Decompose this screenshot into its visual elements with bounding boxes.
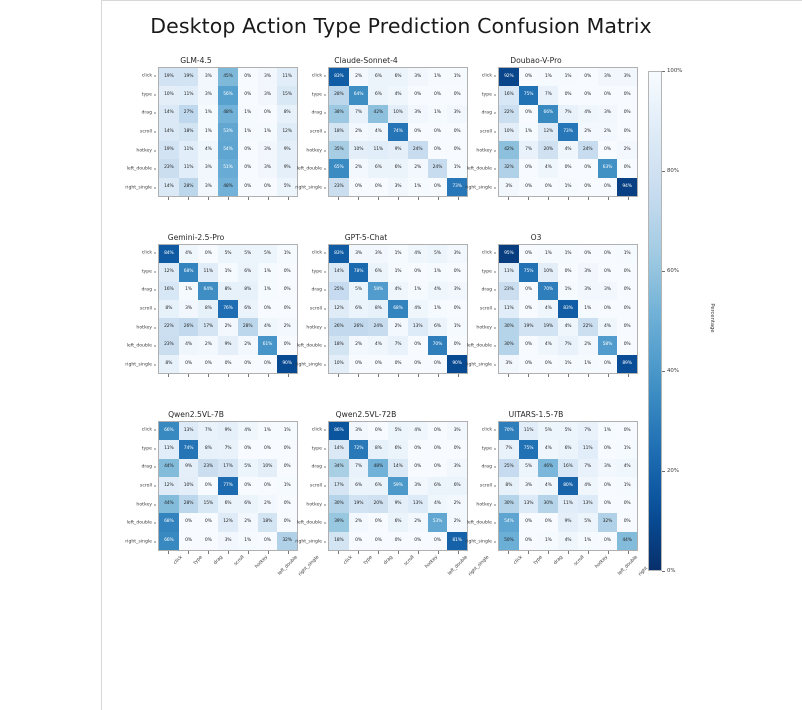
heatmap-cell: 7% (519, 141, 539, 159)
heatmap-cell: 64% (198, 282, 218, 300)
y-tick-mark (494, 523, 497, 524)
y-tick-mark (494, 271, 497, 272)
heatmap-cell: 24% (368, 318, 388, 336)
heatmap-cell: 61% (258, 336, 278, 354)
heatmap-cell: 68% (159, 513, 179, 531)
heatmap-cell: 2% (258, 495, 278, 513)
x-tick-label: right_single (468, 555, 490, 577)
heatmap-cell: 0% (617, 513, 637, 531)
heatmap-cell: 1% (258, 282, 278, 300)
heatmap-cell: 3% (258, 68, 278, 86)
heatmap-cell: 1% (558, 355, 578, 373)
heatmap-cell: 4% (258, 318, 278, 336)
heatmap-cell: 0% (598, 263, 618, 281)
heatmap-cell: 3% (617, 68, 637, 86)
heatmap-cell: 4% (558, 141, 578, 159)
heatmap-cell: 1% (617, 440, 637, 458)
heatmap-cell: 0% (258, 105, 278, 123)
heatmap-cell: 12% (159, 477, 179, 495)
heatmap-cell: 65% (329, 159, 349, 177)
x-tick-mark (418, 197, 419, 200)
heatmap-cell: 0% (198, 355, 218, 373)
y-tick-mark (494, 113, 497, 114)
heatmap-cell: 5% (558, 422, 578, 440)
panel-title: Claude-Sonnet-4 (295, 56, 437, 65)
x-tick-mark (208, 551, 209, 554)
heatmap-cell: 7% (499, 440, 519, 458)
heatmap-cell: 0% (238, 440, 258, 458)
heatmap-cell: 9% (179, 459, 199, 477)
heatmap-cell: 72% (349, 440, 369, 458)
y-tick-label: type (142, 446, 152, 451)
heatmap-cell: 44% (159, 495, 179, 513)
y-tick-label: drag (311, 111, 322, 116)
y-tick-label: left_double (127, 344, 152, 349)
heatmap-cell: 10% (538, 263, 558, 281)
y-tick-label: drag (141, 465, 152, 470)
y-tick-label: scroll (140, 484, 152, 489)
heatmap-cell: 17% (198, 318, 218, 336)
x-tick-mark (548, 551, 549, 554)
heatmap-cell: 0% (238, 355, 258, 373)
heatmap-cell: 1% (428, 68, 448, 86)
heatmap-cell: 18% (179, 123, 199, 141)
heatmap-cell: 0% (179, 355, 199, 373)
confusion-matrix-panel: O3clicktypedragscrollhotkeyleft_doubleri… (465, 233, 607, 378)
heatmap-cell: 80% (558, 477, 578, 495)
x-tick-label: drag (553, 555, 564, 566)
heatmap-cell: 28% (179, 178, 199, 196)
heatmap-cell: 3% (179, 300, 199, 318)
heatmap-cell: 5% (578, 513, 598, 531)
heatmap-cell: 1% (388, 245, 408, 263)
heatmap-cell: 77% (218, 477, 238, 495)
y-tick-mark (154, 309, 157, 310)
heatmap-cell: 9% (558, 513, 578, 531)
heatmap-cell: 75% (519, 263, 539, 281)
y-tick-label: drag (481, 465, 492, 470)
heatmap-cell: 24% (408, 141, 428, 159)
heatmap-cell: 0% (349, 355, 369, 373)
heatmap-cell: 4% (538, 440, 558, 458)
x-tick-label: left_double (617, 555, 639, 577)
heatmap-cell: 8% (238, 282, 258, 300)
heatmap-cell: 23% (159, 336, 179, 354)
heatmap-cell: 3% (578, 263, 598, 281)
heatmap-cell: 6% (428, 477, 448, 495)
heatmap-cell: 0% (598, 245, 618, 263)
heatmap-cell: 0% (258, 355, 278, 373)
heatmap-cell: 0% (349, 178, 369, 196)
heatmap-cell: 6% (368, 477, 388, 495)
heatmap-cell: 8% (159, 300, 179, 318)
heatmap-cell: 1% (218, 263, 238, 281)
heatmap-cell: 92% (499, 68, 519, 86)
heatmap-cell: 54% (218, 141, 238, 159)
heatmap-cell: 10% (258, 459, 278, 477)
x-tick-mark (248, 197, 249, 200)
y-tick-label: right_single (465, 539, 492, 544)
x-tick-mark (588, 551, 589, 554)
x-tick-mark (608, 551, 609, 554)
heatmap-cell: 0% (617, 495, 637, 513)
x-tick-mark (248, 551, 249, 554)
heatmap-cell: 0% (598, 477, 618, 495)
heatmap-cell: 7% (558, 105, 578, 123)
heatmap-cell: 14% (159, 123, 179, 141)
heatmap-cell: 58% (368, 282, 388, 300)
heatmap-cell: 7% (558, 336, 578, 354)
heatmap-cell: 30% (499, 318, 519, 336)
heatmap-cell: 0% (519, 178, 539, 196)
x-tick-mark (418, 374, 419, 377)
heatmap-cell: 19% (179, 68, 199, 86)
heatmap-cell: 0% (598, 178, 618, 196)
y-tick-mark (324, 187, 327, 188)
heatmap-grid: 86%3%0%5%4%0%3%14%72%8%6%0%0%0%34%7%48%1… (328, 421, 468, 551)
heatmap-cell: 0% (538, 355, 558, 373)
y-axis: clicktypedragscrollhotkeyleft_doublerigh… (465, 67, 496, 197)
heatmap-cell: 11% (499, 263, 519, 281)
heatmap-cell: 2% (238, 513, 258, 531)
x-tick-mark (398, 374, 399, 377)
x-tick-mark (168, 197, 169, 200)
heatmap-cell: 0% (538, 178, 558, 196)
heatmap-cell: 3% (198, 86, 218, 104)
heatmap-cell: 42% (499, 141, 519, 159)
heatmap-cell: 4% (368, 123, 388, 141)
x-tick-mark (628, 197, 629, 200)
heatmap-cell: 10% (499, 123, 519, 141)
heatmap-grid: 92%0%1%1%0%3%3%16%75%7%0%0%0%0%22%0%66%7… (498, 67, 638, 197)
x-tick-mark (358, 197, 359, 200)
heatmap-cell: 64% (349, 86, 369, 104)
heatmap-cell: 3% (258, 141, 278, 159)
heatmap-cell: 4% (598, 318, 618, 336)
x-tick-label: drag (383, 555, 394, 566)
heatmap-cell: 1% (198, 123, 218, 141)
y-tick-label: type (142, 92, 152, 97)
heatmap-cell: 1% (598, 422, 618, 440)
y-axis: clicktypedragscrollhotkeyleft_doublerigh… (465, 421, 496, 551)
heatmap-cell: 14% (388, 459, 408, 477)
heatmap-cell: 44% (159, 459, 179, 477)
x-tick-mark (568, 197, 569, 200)
heatmap-cell: 0% (198, 532, 218, 550)
y-tick-mark (494, 448, 497, 449)
colorbar-tick-mark (662, 71, 665, 72)
x-tick-mark (398, 197, 399, 200)
y-tick-label: left_double (297, 167, 322, 172)
heatmap-cell: 4% (538, 159, 558, 177)
heatmap-cell: 30% (499, 495, 519, 513)
heatmap-cell: 11% (558, 495, 578, 513)
heatmap-cell: 3% (349, 422, 369, 440)
heatmap-grid: 70%11%5%5%7%1%0%7%75%4%6%11%0%1%25%5%46%… (498, 421, 638, 551)
heatmap-cell: 23% (499, 282, 519, 300)
heatmap-cell: 0% (258, 477, 278, 495)
heatmap-cell: 68% (388, 300, 408, 318)
x-tick-label: scroll (404, 555, 416, 567)
y-tick-mark (154, 486, 157, 487)
heatmap-cell: 94% (617, 178, 637, 196)
heatmap-cell: 30% (329, 495, 349, 513)
y-tick-mark (324, 523, 327, 524)
x-tick-mark (568, 551, 569, 554)
heatmap-cell: 0% (519, 159, 539, 177)
heatmap-cell: 1% (558, 178, 578, 196)
heatmap-cell: 74% (179, 440, 199, 458)
y-tick-mark (324, 290, 327, 291)
x-tick-label: scroll (234, 555, 246, 567)
y-tick-mark (324, 150, 327, 151)
heatmap-cell: 0% (617, 123, 637, 141)
heatmap-cell: 6% (388, 440, 408, 458)
heatmap-cell: 18% (329, 532, 349, 550)
heatmap-cell: 9% (388, 141, 408, 159)
y-tick-label: left_double (127, 167, 152, 172)
heatmap-cell: 2% (578, 123, 598, 141)
heatmap-cell: 45% (218, 68, 238, 86)
heatmap-cell: 0% (368, 422, 388, 440)
heatmap-cell: 13% (578, 495, 598, 513)
heatmap-cell: 3% (388, 178, 408, 196)
y-tick-mark (494, 364, 497, 365)
x-tick-mark (378, 197, 379, 200)
heatmap-cell: 83% (558, 300, 578, 318)
heatmap-cell: 39% (329, 513, 349, 531)
heatmap-cell: 0% (519, 105, 539, 123)
colorbar-tick-mark (662, 171, 665, 172)
heatmap-cell: 5% (388, 422, 408, 440)
heatmap-cell: 1% (538, 245, 558, 263)
heatmap-cell: 2% (349, 68, 369, 86)
heatmap-cell: 83% (329, 245, 349, 263)
heatmap-cell: 1% (238, 532, 258, 550)
y-tick-mark (324, 448, 327, 449)
y-tick-mark (154, 346, 157, 347)
colorbar: 0%20%40%60%80%100%Percentage (648, 71, 662, 571)
heatmap-cell: 66% (159, 532, 179, 550)
y-tick-mark (154, 169, 157, 170)
heatmap-grid: 66%13%7%9%4%1%1%11%74%8%7%0%0%0%44%9%23%… (158, 421, 298, 551)
heatmap-cell: 16% (558, 459, 578, 477)
x-tick-label: hotkey (595, 555, 610, 570)
heatmap-cell: 4% (408, 422, 428, 440)
heatmap-cell: 7% (218, 440, 238, 458)
x-tick-mark (508, 197, 509, 200)
heatmap-cell: 0% (238, 86, 258, 104)
heatmap-cell: 3% (499, 178, 519, 196)
heatmap-cell: 6% (218, 495, 238, 513)
heatmap-cell: 11% (159, 440, 179, 458)
x-tick-label: right_single (298, 555, 320, 577)
heatmap-cell: 73% (558, 123, 578, 141)
heatmap-cell: 0% (408, 263, 428, 281)
heatmap-cell: 6% (388, 68, 408, 86)
x-tick-mark (168, 374, 169, 377)
x-tick-mark (528, 551, 529, 554)
y-tick-mark (494, 169, 497, 170)
x-tick-label: scroll (574, 555, 586, 567)
heatmap-cell: 4% (617, 459, 637, 477)
heatmap-cell: 70% (428, 336, 448, 354)
y-axis: clicktypedragscrollhotkeyleft_doublerigh… (125, 244, 156, 374)
heatmap-cell: 0% (558, 159, 578, 177)
heatmap-cell: 5% (519, 459, 539, 477)
x-tick-mark (438, 197, 439, 200)
x-tick-mark (608, 374, 609, 377)
heatmap-cell: 6% (368, 159, 388, 177)
heatmap-cell: 3% (499, 355, 519, 373)
y-tick-label: hotkey (136, 148, 152, 153)
heatmap-cell: 0% (258, 532, 278, 550)
x-tick-mark (208, 374, 209, 377)
heatmap-cell: 70% (499, 422, 519, 440)
heatmap-cell: 0% (617, 336, 637, 354)
y-tick-mark (324, 76, 327, 77)
colorbar-tick-mark (662, 471, 665, 472)
heatmap-cell: 1% (428, 263, 448, 281)
y-tick-label: right_single (295, 185, 322, 190)
heatmap-cell: 4% (558, 532, 578, 550)
y-tick-mark (154, 76, 157, 77)
heatmap-cell: 12% (329, 300, 349, 318)
heatmap-cell: 3% (198, 159, 218, 177)
heatmap-cell: 2% (578, 336, 598, 354)
heatmap-cell: 0% (408, 440, 428, 458)
heatmap-cell: 78% (349, 263, 369, 281)
y-tick-mark (494, 94, 497, 95)
colorbar-tick-label: 40% (667, 368, 679, 374)
y-tick-mark (324, 364, 327, 365)
y-tick-mark (324, 327, 327, 328)
heatmap-cell: 11% (499, 300, 519, 318)
heatmap-cell: 4% (538, 477, 558, 495)
heatmap-cell: 0% (598, 86, 618, 104)
heatmap-cell: 28% (238, 318, 258, 336)
heatmap-cell: 18% (329, 336, 349, 354)
x-tick-label: hotkey (255, 555, 270, 570)
heatmap-cell: 3% (198, 178, 218, 196)
heatmap-cell: 5% (238, 459, 258, 477)
panel-title: GLM-4.5 (125, 56, 267, 65)
heatmap-cell: 54% (499, 513, 519, 531)
heatmap-cell: 32% (598, 513, 618, 531)
heatmap-cell: 0% (558, 263, 578, 281)
y-tick-label: click (482, 428, 492, 433)
heatmap-cell: 0% (617, 300, 637, 318)
x-tick-mark (588, 197, 589, 200)
heatmap-cell: 0% (617, 422, 637, 440)
heatmap-cell: 8% (499, 477, 519, 495)
x-tick-mark (338, 374, 339, 377)
heatmap-cell: 58% (598, 336, 618, 354)
heatmap-cell: 6% (349, 477, 369, 495)
heatmap-cell: 9% (218, 422, 238, 440)
heatmap-cell: 0% (558, 86, 578, 104)
heatmap-cell: 0% (428, 86, 448, 104)
heatmap-cell: 0% (258, 178, 278, 196)
x-tick-mark (528, 197, 529, 200)
heatmap-cell: 12% (218, 513, 238, 531)
y-tick-label: right_single (125, 539, 152, 544)
heatmap-cell: 26% (179, 318, 199, 336)
y-tick-mark (324, 309, 327, 310)
y-tick-label: scroll (140, 307, 152, 312)
x-tick-mark (168, 551, 169, 554)
heatmap-cell: 2% (598, 123, 618, 141)
heatmap-cell: 1% (258, 263, 278, 281)
heatmap-cell: 0% (578, 245, 598, 263)
heatmap-cell: 53% (218, 123, 238, 141)
heatmap-cell: 10% (159, 86, 179, 104)
heatmap-cell: 7% (198, 422, 218, 440)
x-tick-mark (528, 374, 529, 377)
heatmap-cell: 1% (558, 245, 578, 263)
y-axis: clicktypedragscrollhotkeyleft_doublerigh… (295, 244, 326, 374)
heatmap-cell: 16% (499, 86, 519, 104)
heatmap-cell: 0% (368, 355, 388, 373)
heatmap-cell: 68% (179, 263, 199, 281)
heatmap-cell: 4% (198, 141, 218, 159)
heatmap-cell: 0% (519, 245, 539, 263)
heatmap-cell: 1% (519, 123, 539, 141)
heatmap-cell: 10% (349, 141, 369, 159)
y-axis: clicktypedragscrollhotkeyleft_doublerigh… (125, 67, 156, 197)
heatmap-cell: 0% (519, 68, 539, 86)
x-tick-label: hotkey (425, 555, 440, 570)
heatmap-cell: 3% (519, 477, 539, 495)
x-tick-mark (268, 197, 269, 200)
heatmap-cell: 6% (368, 86, 388, 104)
x-tick-mark (338, 551, 339, 554)
heatmap-cell: 11% (519, 422, 539, 440)
heatmap-cell: 4% (578, 105, 598, 123)
heatmap-cell: 1% (408, 282, 428, 300)
heatmap-cell: 26% (349, 318, 369, 336)
heatmap-cell: 0% (578, 159, 598, 177)
heatmap-cell: 0% (238, 141, 258, 159)
colorbar-gradient (648, 71, 662, 571)
heatmap-cell: 4% (428, 282, 448, 300)
y-tick-mark (154, 364, 157, 365)
heatmap-cell: 59% (388, 477, 408, 495)
x-tick-mark (548, 197, 549, 200)
x-tick-mark (418, 551, 419, 554)
heatmap-grid: 83%2%6%6%3%1%1%28%64%6%4%0%0%0%38%7%42%1… (328, 67, 468, 197)
heatmap-cell: 53% (428, 513, 448, 531)
y-tick-mark (154, 467, 157, 468)
heatmap-cell: 1% (538, 68, 558, 86)
heatmap-cell: 6% (388, 159, 408, 177)
y-tick-label: hotkey (136, 502, 152, 507)
heatmap-cell: 3% (598, 105, 618, 123)
y-tick-label: type (312, 269, 322, 274)
x-tick-label: type (193, 555, 204, 566)
x-tick-mark (338, 197, 339, 200)
heatmap-cell: 12% (159, 263, 179, 281)
panel-title: Gemini-2.5-Pro (125, 233, 267, 242)
heatmap-cell: 17% (329, 477, 349, 495)
y-tick-label: left_double (297, 344, 322, 349)
y-tick-mark (154, 504, 157, 505)
confusion-matrix-panel: UITARS-1.5-7Bclicktypedragscrollhotkeyle… (465, 410, 607, 555)
heatmap-cell: 0% (349, 532, 369, 550)
heatmap-cell: 0% (519, 513, 539, 531)
heatmap-cell: 8% (198, 440, 218, 458)
heatmap-cell: 13% (519, 495, 539, 513)
